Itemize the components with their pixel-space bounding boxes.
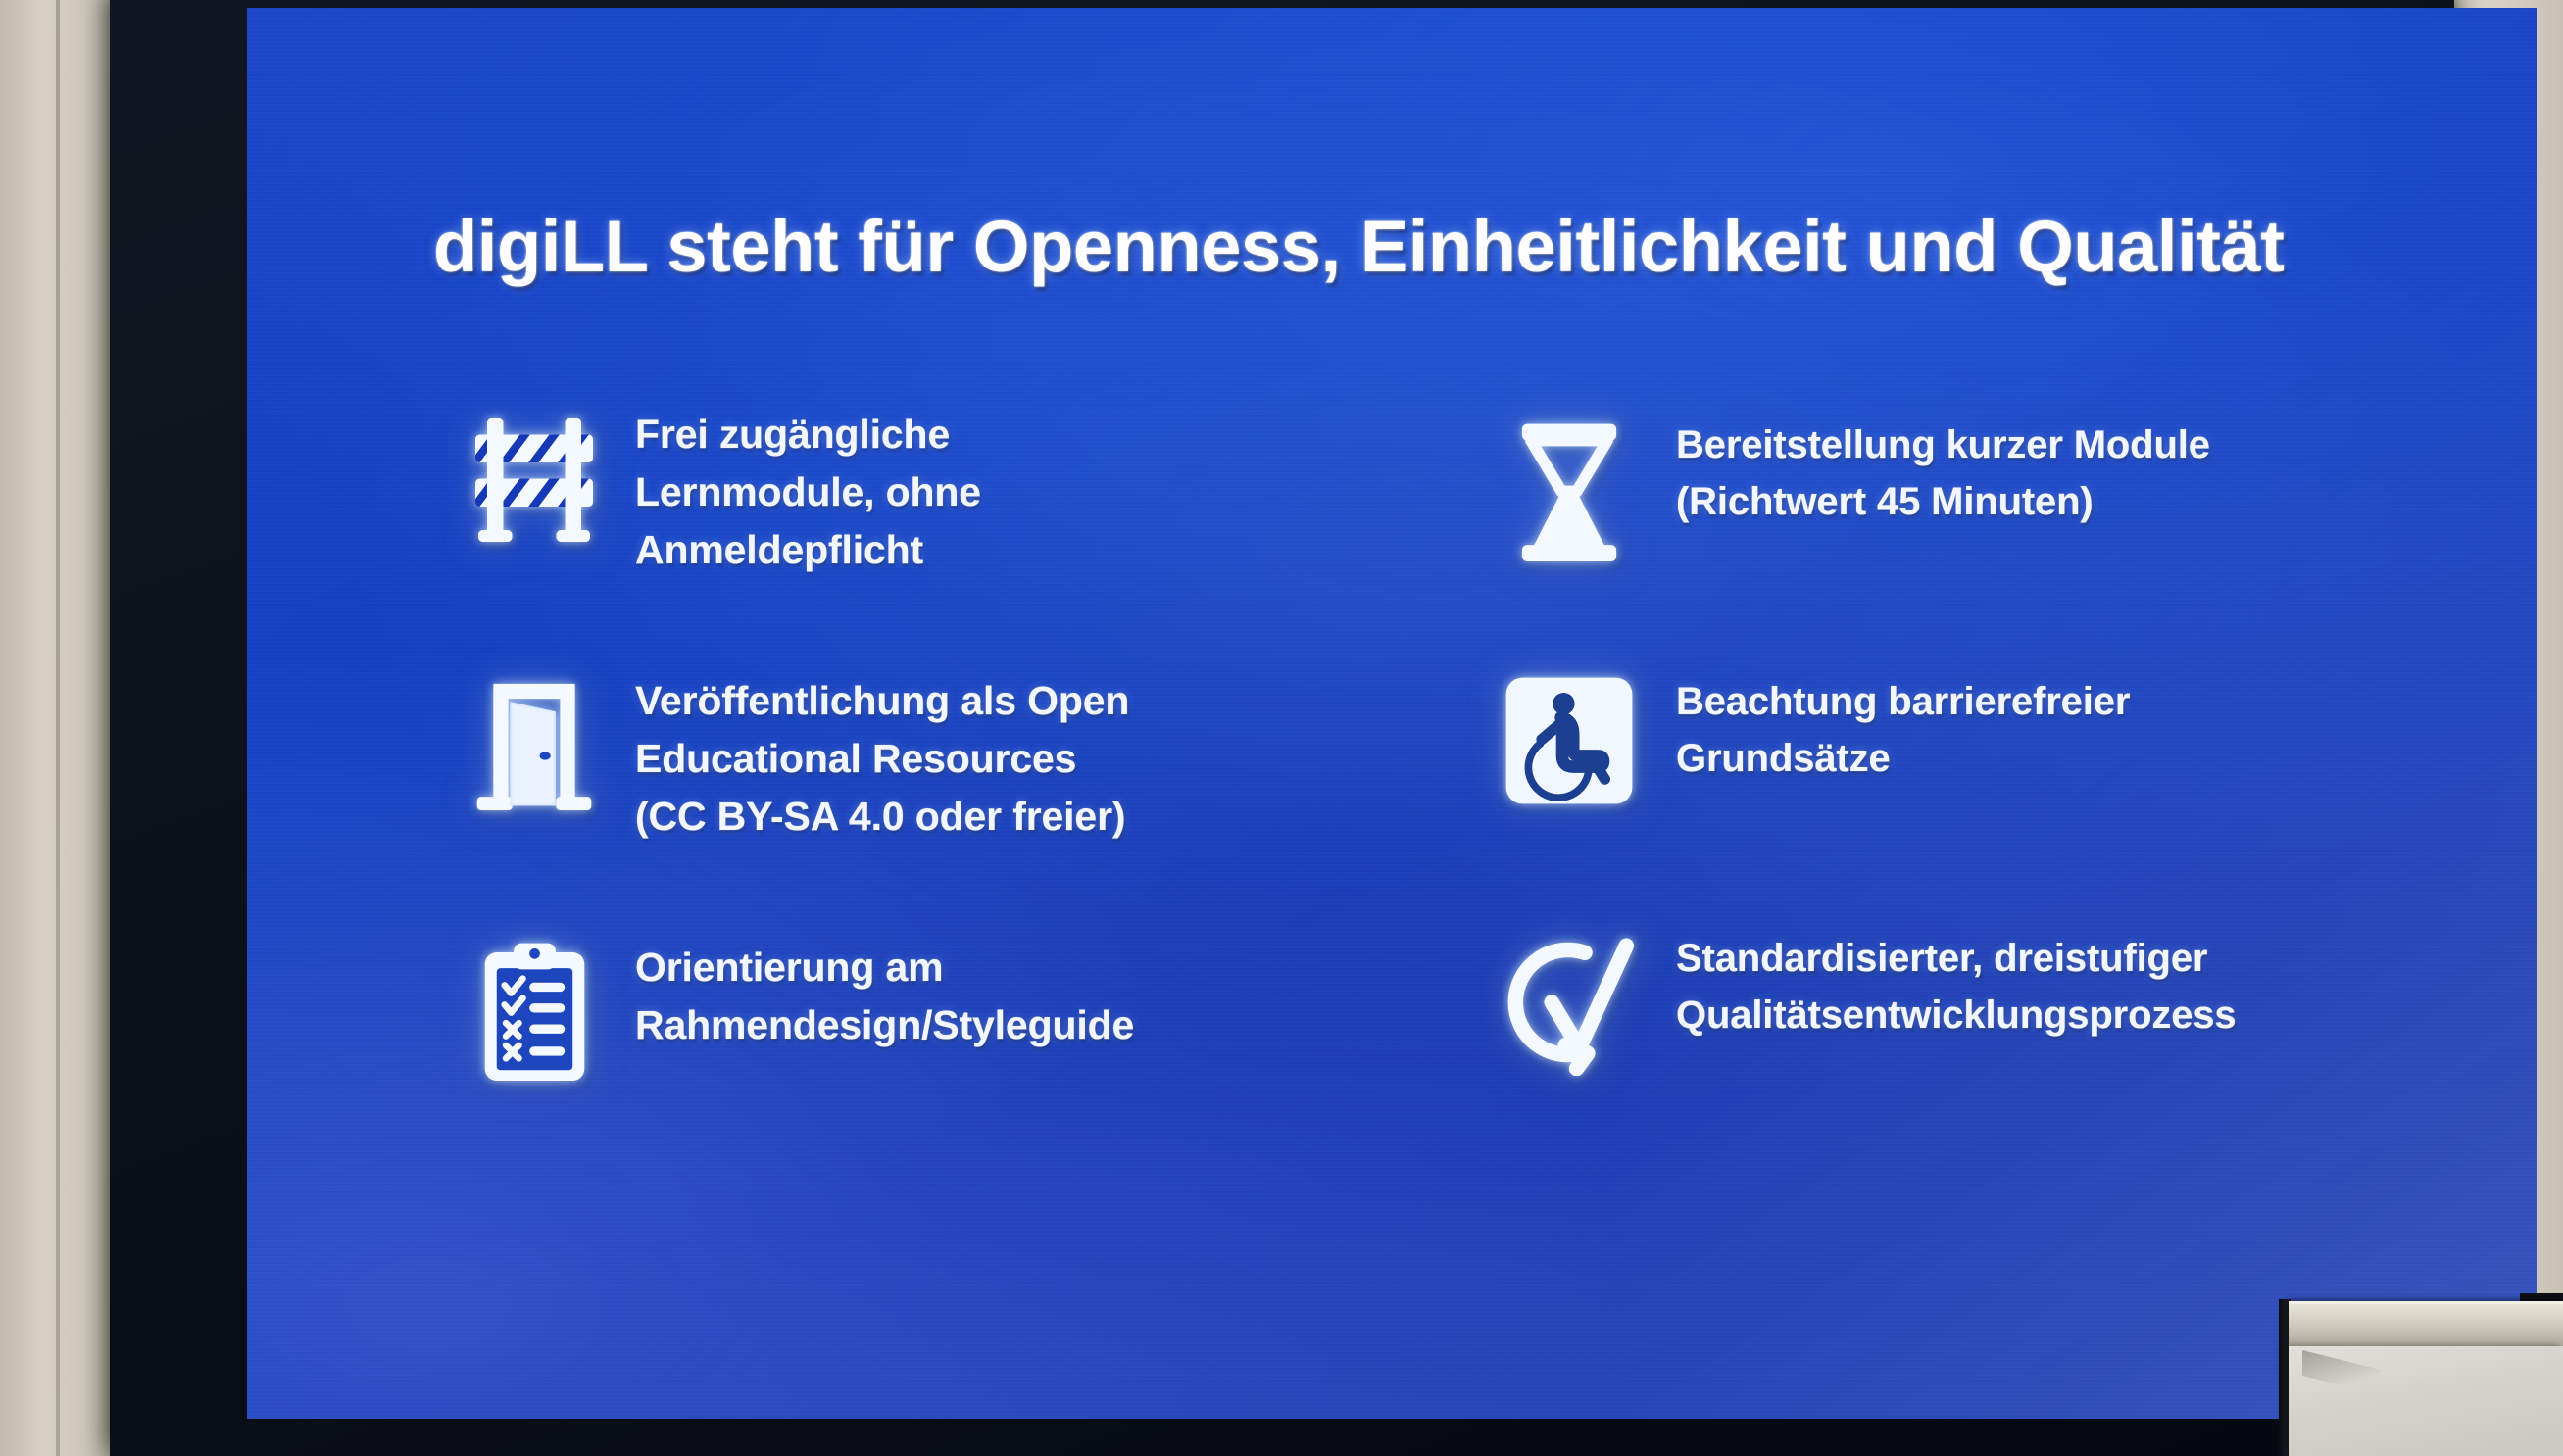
feature-line: Beachtung barrierefreier	[1676, 674, 2130, 731]
feature-item: Standardisierter, dreistufiger Qualitäts…	[1462, 925, 2374, 1182]
feature-line: Veröffentlichung als Open	[635, 672, 1129, 730]
feature-line: Educational Resources	[635, 730, 1129, 788]
quality-cycle-check-icon	[1462, 925, 1676, 1076]
barricade-icon	[433, 400, 635, 551]
feature-line: Lernmodule, ohne	[635, 463, 981, 521]
feature-line: Frei zugängliche	[635, 406, 981, 463]
feature-line: Anmeldepflicht	[635, 521, 981, 579]
feature-text: Bereitstellung kurzer Module (Richtwert …	[1676, 412, 2210, 530]
feature-item: Frei zugängliche Lernmodule, ohne Anmeld…	[433, 400, 1345, 666]
feature-line: Rahmendesign/Styleguide	[635, 996, 1134, 1054]
left-feature-column: Frei zugängliche Lernmodule, ohne Anmeld…	[433, 400, 1345, 1199]
feature-line: Orientierung am	[635, 939, 1134, 996]
left-wall	[0, 0, 120, 1456]
clipboard-checklist-icon	[433, 933, 635, 1089]
wheelchair-accessibility-icon	[1462, 668, 1676, 809]
room-scene: digiLL steht für Openness, Einheitlichke…	[0, 0, 2563, 1456]
feature-line: Bereitstellung kurzer Module	[1676, 417, 2210, 474]
feature-line: Grundsätze	[1676, 731, 2130, 788]
feature-text: Frei zugängliche Lernmodule, ohne Anmeld…	[635, 400, 981, 579]
hourglass-icon	[1462, 412, 1676, 567]
feature-text: Standardisierter, dreistufiger Qualitäts…	[1676, 925, 2237, 1043]
feature-line: Qualitätsentwicklungsprozess	[1676, 988, 2237, 1044]
feature-text: Veröffentlichung als Open Educational Re…	[635, 666, 1129, 846]
feature-line: Standardisierter, dreistufiger	[1676, 931, 2237, 988]
feature-item: Bereitstellung kurzer Module (Richtwert …	[1462, 412, 2374, 668]
wall-seam	[56, 0, 60, 1456]
flipchart-rail	[2289, 1301, 2563, 1349]
feature-text: Orientierung am Rahmendesign/Styleguide	[635, 933, 1134, 1054]
feature-columns: Frei zugängliche Lernmodule, ohne Anmeld…	[433, 400, 2462, 1199]
presentation-slide: digiLL steht für Openness, Einheitlichke…	[247, 8, 2537, 1419]
feature-item: Beachtung barrierefreier Grundsätze	[1462, 668, 2374, 925]
feature-item: Veröffentlichung als Open Educational Re…	[433, 666, 1345, 933]
feature-line: (CC BY-SA 4.0 oder freier)	[635, 788, 1129, 846]
feature-item: Orientierung am Rahmendesign/Styleguide	[433, 933, 1345, 1199]
right-feature-column: Bereitstellung kurzer Module (Richtwert …	[1462, 400, 2374, 1199]
projection-screen-bezel: digiLL steht für Openness, Einheitlichke…	[110, 0, 2454, 1456]
slide-title: digiLL steht für Openness, Einheitlichke…	[433, 209, 2393, 285]
feature-line: (Richtwert 45 Minuten)	[1676, 474, 2210, 531]
feature-text: Beachtung barrierefreier Grundsätze	[1676, 668, 2130, 787]
open-door-icon	[433, 666, 635, 817]
flipchart-easel	[2279, 1289, 2563, 1456]
